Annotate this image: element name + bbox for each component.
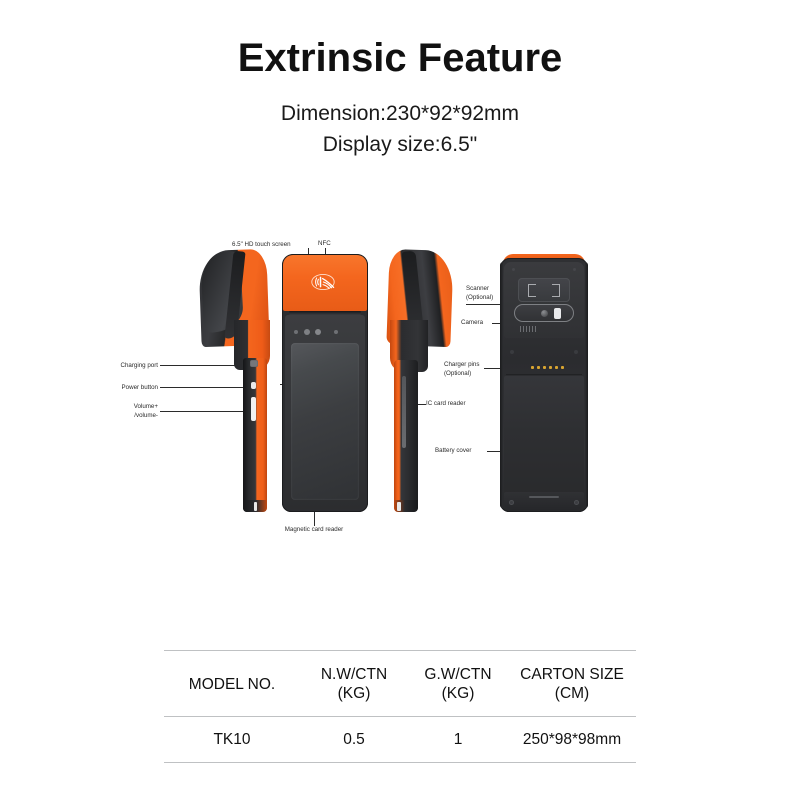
camera-lens-icon	[541, 310, 548, 317]
page-root: Extrinsic Feature Dimension:230*92*92mm …	[0, 0, 800, 800]
speaker-vent	[520, 326, 538, 332]
scanner-bracket	[552, 289, 560, 297]
nfc-wave-icon	[310, 271, 340, 293]
device-back-view	[500, 254, 588, 512]
column-header-line1: G.W/CTN	[424, 666, 491, 683]
callout-label-power-button: Power button	[92, 384, 158, 392]
flash-icon	[554, 308, 561, 319]
product-diagram: 6.5" HD touch screen NFC Charging port P…	[0, 200, 800, 600]
column-header-model-no: MODEL NO.	[164, 651, 300, 717]
sensor-dot	[294, 330, 298, 334]
device-foot-slot	[254, 502, 257, 511]
scanner-bracket	[528, 289, 536, 297]
column-header-line2: (KG)	[338, 685, 371, 702]
power-button[interactable]	[251, 382, 256, 389]
back-right-edge	[585, 262, 588, 508]
page-title: Extrinsic Feature	[0, 36, 800, 81]
dimension-text: Dimension:230*92*92mm	[0, 102, 800, 126]
bottom-slot	[529, 496, 559, 498]
housing-screw	[512, 268, 515, 271]
callout-label-touch-screen: 6.5" HD touch screen	[232, 241, 291, 249]
column-header-line1: CARTON SIZE	[520, 666, 624, 683]
column-header-carton-size: CARTON SIZE (CM)	[508, 651, 636, 717]
callout-label-volume-line1: Volume+	[100, 403, 158, 411]
device-right-side-view	[382, 250, 472, 512]
column-header-line2: (KG)	[442, 685, 475, 702]
cell-gw-ctn: 1	[408, 716, 508, 762]
charging-port	[250, 360, 258, 367]
charger-pins-icon	[531, 366, 565, 369]
cell-nw-ctn: 0.5	[300, 716, 408, 762]
column-header-line2: (CM)	[555, 685, 589, 702]
spec-table-body: TK10 0.5 1 250*98*98mm	[164, 716, 636, 762]
column-header-nw-ctn: N.W/CTN (KG)	[300, 651, 408, 717]
sensor-dot	[315, 329, 321, 335]
device-left-side-view	[196, 250, 288, 512]
table-row: TK10 0.5 1 250*98*98mm	[164, 716, 636, 762]
back-bottom-housing	[504, 492, 584, 510]
callout-label-charging-port: Charging port	[96, 362, 158, 370]
front-sensor-group	[294, 328, 354, 336]
back-left-edge	[500, 262, 503, 508]
column-header-gw-ctn: G.W/CTN (KG)	[408, 651, 508, 717]
ic-card-reader-slot	[402, 376, 406, 448]
housing-screw	[510, 350, 514, 354]
spec-table-element: MODEL NO. N.W/CTN (KG) G.W/CTN (KG) CART…	[164, 650, 636, 763]
spec-table: MODEL NO. N.W/CTN (KG) G.W/CTN (KG) CART…	[164, 650, 636, 763]
display-size-text: Display size:6.5"	[0, 133, 800, 157]
bottom-screw	[509, 500, 514, 505]
sensor-dot	[304, 329, 310, 335]
callout-label-volume-line2: /volume-	[100, 412, 158, 420]
device-body-edge	[243, 358, 249, 512]
column-header-line1: N.W/CTN	[321, 666, 387, 683]
touch-screen[interactable]	[291, 343, 359, 500]
spec-table-head: MODEL NO. N.W/CTN (KG) G.W/CTN (KG) CART…	[164, 651, 636, 717]
bottom-screw	[574, 500, 579, 505]
battery-cover[interactable]	[504, 376, 584, 500]
table-header-row: MODEL NO. N.W/CTN (KG) G.W/CTN (KG) CART…	[164, 651, 636, 717]
column-header-line1: MODEL NO.	[189, 676, 275, 693]
volume-rocker-button[interactable]	[251, 397, 256, 421]
device-body-side	[394, 360, 418, 512]
device-front-view	[282, 254, 368, 512]
cell-carton-size: 250*98*98mm	[508, 716, 636, 762]
sensor-dot	[334, 330, 338, 334]
housing-screw	[574, 350, 578, 354]
device-foot-slot	[397, 502, 401, 511]
battery-cover-seam	[506, 374, 582, 375]
cell-model-no: TK10	[164, 716, 300, 762]
housing-screw	[573, 268, 576, 271]
callout-label-magnetic-card-reader: Magnetic card reader	[254, 526, 374, 534]
scanner-window-icon	[518, 278, 570, 302]
